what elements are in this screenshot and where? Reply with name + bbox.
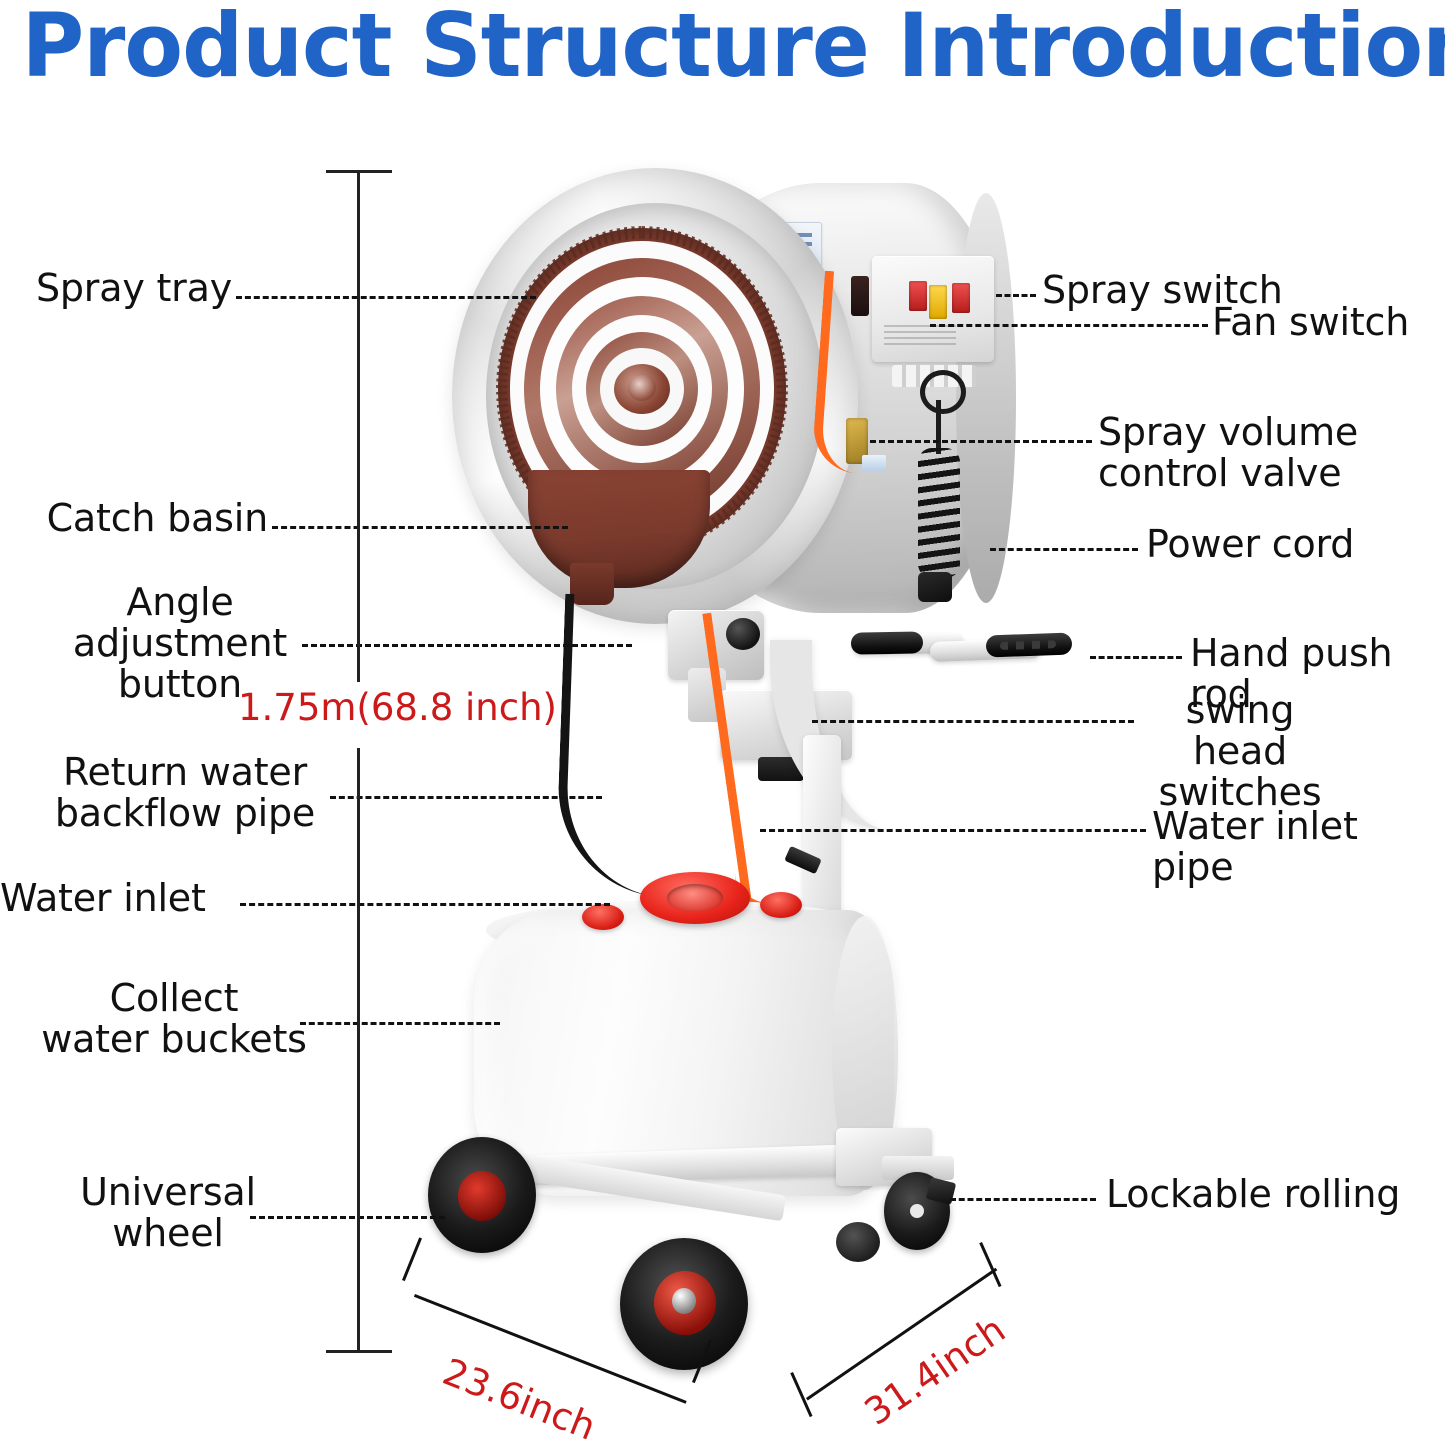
- fan-hub-center-icon: [628, 375, 656, 401]
- power-cord-line-icon: [936, 400, 941, 454]
- return-water-backflow-pipe-icon: [555, 594, 702, 899]
- tank-filler-cap-icon[interactable]: [640, 872, 750, 924]
- label-universal-wheel: Universal wheel: [50, 1172, 286, 1254]
- diagram-canvas: Product Structure Introduction: [0, 0, 1445, 1437]
- tank-outlet-port-icon[interactable]: [760, 892, 802, 918]
- label-fan-switch: Fan switch: [1212, 302, 1409, 343]
- power-cord-coil-icon: [918, 448, 960, 578]
- label-lockable-rolling: Lockable rolling: [1106, 1174, 1400, 1215]
- leader-universal-wheel: [250, 1216, 445, 1219]
- universal-wheel-left-icon: [428, 1137, 536, 1253]
- wheel-hub-icon: [672, 1288, 696, 1314]
- label-water-inlet-pipe: Water inlet pipe: [1152, 806, 1445, 888]
- fan-switch-icon[interactable]: [929, 285, 947, 319]
- label-return-water: Return water backflow pipe: [40, 752, 330, 834]
- leader-angle-adjustment: [302, 644, 632, 647]
- leader-power-cord: [990, 548, 1138, 551]
- leader-hand-push-rod: [1090, 656, 1182, 659]
- leader-return-water: [330, 796, 602, 799]
- valve-tag-icon: [862, 455, 886, 471]
- spray-switch-icon[interactable]: [909, 281, 927, 311]
- leader-spray-switch: [996, 294, 1036, 297]
- push-rod-grip-right-icon[interactable]: [986, 633, 1073, 658]
- label-power-cord: Power cord: [1146, 524, 1354, 565]
- power-cord-loop-icon: [920, 370, 966, 414]
- water-inlet-port-icon[interactable]: [582, 904, 624, 930]
- rear-wheel-icon: [836, 1222, 880, 1262]
- label-spray-tray: Spray tray: [0, 268, 232, 309]
- height-dimension-label: 1.75m(68.8 inch): [238, 688, 557, 728]
- leader-fan-switch: [930, 324, 1208, 327]
- label-catch-basin: Catch basin: [0, 498, 268, 539]
- leader-collect-buckets: [300, 1022, 500, 1025]
- leader-lockable-rolling: [950, 1198, 1096, 1201]
- leader-catch-basin: [272, 526, 568, 529]
- leader-swing-head-switches: [812, 720, 1134, 723]
- leader-water-inlet: [240, 903, 610, 906]
- leader-water-inlet-pipe: [760, 829, 1146, 832]
- power-plug-icon: [918, 572, 952, 602]
- height-dimension-cap-bottom: [326, 1350, 392, 1353]
- label-spray-volume-valve: Spray volume control valve: [1098, 412, 1358, 494]
- aux-switch-icon[interactable]: [952, 283, 970, 313]
- label-collect-buckets: Collect water buckets: [40, 978, 308, 1060]
- panel-legend-icon: [884, 325, 956, 347]
- label-water-inlet: Water inlet: [0, 878, 240, 919]
- leader-spray-tray: [236, 296, 536, 299]
- leader-spray-volume-valve: [870, 440, 1092, 443]
- height-dimension-line-lower: [357, 748, 360, 1350]
- push-rod-grip-left-icon[interactable]: [851, 631, 923, 654]
- height-dimension-line-upper: [357, 170, 360, 682]
- label-swing-head-switches: swing head switches: [1140, 690, 1340, 813]
